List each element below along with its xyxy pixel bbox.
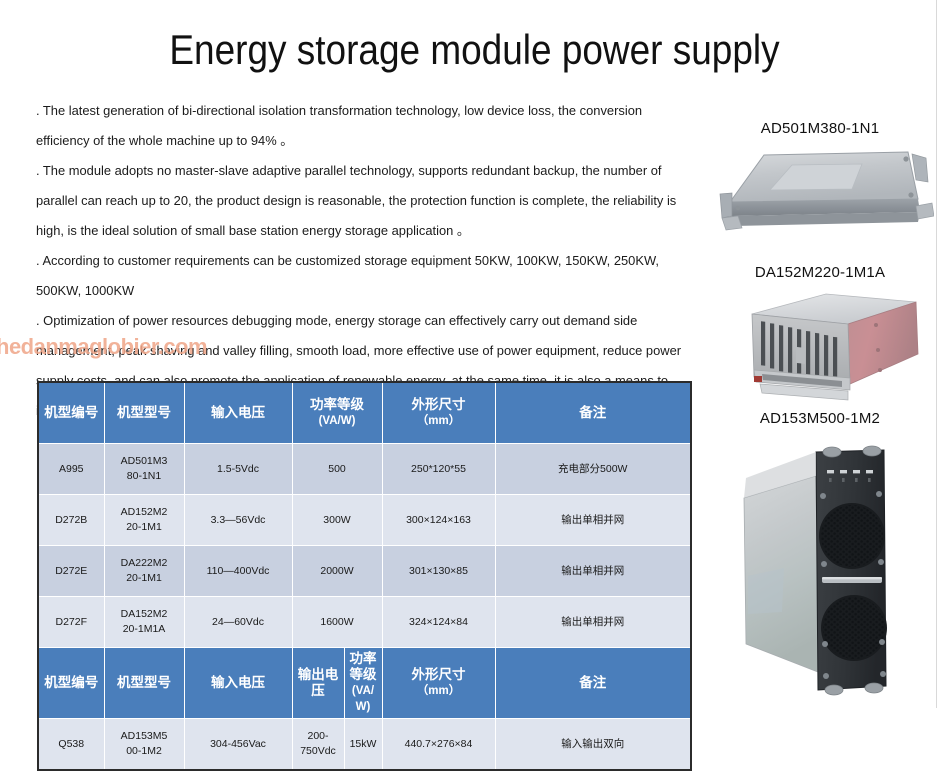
header-dimensions-main: 外形尺寸 (385, 397, 493, 413)
cell-power-level: 500 (292, 444, 382, 495)
table-header-row-1: 机型编号 机型型号 输入电压 功率等级 (VA/W) 外形尺寸 （mm） 备注 (38, 382, 691, 444)
cell-model-number-line1: DA152M2 (107, 607, 182, 622)
flat-rack-module-icon (712, 146, 934, 256)
product-label-2: DA152M220-1M1A (700, 264, 940, 281)
header-cell-model-number: 机型型号 (104, 382, 184, 444)
cell-model-number-line2: 20-1M1 (107, 520, 182, 535)
table-row: D272F DA152M2 20-1M1A 24—60Vdc 1600W 324… (38, 597, 691, 648)
cell-model-number-line2: 00-1M2 (107, 744, 182, 759)
header-power-level-main: 功率等级 (295, 397, 380, 413)
table-row: Q538 AD153M5 00-1M2 304-456Vac 200- 750V… (38, 719, 691, 771)
cell-model-number: DA222M2 20-1M1 (104, 546, 184, 597)
cell-model-number-line2: 80-1N1 (107, 469, 182, 484)
description-paragraph-1: . The latest generation of bi-directiona… (36, 96, 682, 156)
header2-dimensions-unit: （mm） (385, 683, 493, 699)
header2-power-level-unit: (VA/W) (347, 683, 380, 715)
cell-model-number: AD501M3 80-1N1 (104, 444, 184, 495)
cell-model-code: D272F (38, 597, 104, 648)
cell-remark: 输出单相并网 (495, 597, 691, 648)
cell-model-number-line1: AD152M2 (107, 505, 182, 520)
product-image-2 (730, 292, 930, 404)
table-row: A995 AD501M3 80-1N1 1.5-5Vdc 500 250*120… (38, 444, 691, 495)
tall-fan-module-icon (722, 436, 928, 698)
cell-dimensions: 250*120*55 (382, 444, 495, 495)
cell-input-voltage: 3.3—56Vdc (184, 495, 292, 546)
cell-input-voltage: 110—400Vdc (184, 546, 292, 597)
header2-power-level-main: 功率等级 (347, 651, 380, 683)
cell-model-code: D272B (38, 495, 104, 546)
header-cell-power-level: 功率等级 (VA/W) (292, 382, 382, 444)
cell-power-level: 2000W (292, 546, 382, 597)
slide-page: Energy storage module power supply . The… (0, 0, 949, 708)
product-label-3: AD153M500-1M2 (700, 410, 940, 427)
cell-model-number-line2: 20-1M1A (107, 622, 182, 637)
cell-model-code: A995 (38, 444, 104, 495)
cell-dimensions: 324×124×84 (382, 597, 495, 648)
cell-dimensions: 440.7×276×84 (382, 719, 495, 771)
cell-remark: 输出单相并网 (495, 546, 691, 597)
product-gallery: AD501M380-1N1 (700, 0, 949, 708)
cell-remark: 输入输出双向 (495, 719, 691, 771)
cell-input-voltage: 24—60Vdc (184, 597, 292, 648)
product-label-1: AD501M380-1N1 (700, 120, 940, 137)
cell-dimensions: 300×124×163 (382, 495, 495, 546)
cell-power-level: 300W (292, 495, 382, 546)
table-row: D272B AD152M2 20-1M1 3.3—56Vdc 300W 300×… (38, 495, 691, 546)
header-cell-remark: 备注 (495, 382, 691, 444)
cell-model-number: AD152M2 20-1M1 (104, 495, 184, 546)
product-image-3 (722, 436, 928, 698)
specification-table: 机型编号 机型型号 输入电压 功率等级 (VA/W) 外形尺寸 （mm） 备注 … (37, 381, 692, 771)
description-paragraph-3: . According to customer requirements can… (36, 246, 682, 306)
header-cell-model-code: 机型编号 (38, 382, 104, 444)
table-row: D272E DA222M2 20-1M1 110—400Vdc 2000W 30… (38, 546, 691, 597)
cell-remark: 充电部分500W (495, 444, 691, 495)
header-power-level-unit: (VA/W) (295, 413, 380, 429)
cell-power-level: 1600W (292, 597, 382, 648)
cell-model-number-line2: 20-1M1 (107, 571, 182, 586)
cell-output-voltage-line1: 200- (295, 729, 342, 744)
cell-model-number-line1: AD501M3 (107, 454, 182, 469)
right-edge-divider (936, 0, 937, 708)
cell-input-voltage: 1.5-5Vdc (184, 444, 292, 495)
product-image-1 (712, 146, 934, 256)
cell-model-number-line1: DA222M2 (107, 556, 182, 571)
cell-model-number: DA152M2 20-1M1A (104, 597, 184, 648)
cell-model-code: Q538 (38, 719, 104, 771)
cell-output-voltage-line2: 750Vdc (295, 744, 342, 759)
cell-power-level: 15kW (344, 719, 382, 771)
description-paragraph-2: . The module adopts no master-slave adap… (36, 156, 682, 246)
description-block: . The latest generation of bi-directiona… (36, 96, 682, 426)
cell-model-number-line1: AD153M5 (107, 729, 182, 744)
cell-remark: 输出单相并网 (495, 495, 691, 546)
cell-dimensions: 301×130×85 (382, 546, 495, 597)
header2-dimensions-main: 外形尺寸 (385, 667, 493, 683)
cell-model-code: D272E (38, 546, 104, 597)
cell-input-voltage: 304-456Vac (184, 719, 292, 771)
cell-output-voltage: 200- 750Vdc (292, 719, 344, 771)
header-cell-input-voltage: 输入电压 (184, 382, 292, 444)
vented-rectifier-module-icon (730, 292, 930, 404)
header-dimensions-unit: （mm） (385, 413, 493, 429)
header-cell-dimensions: 外形尺寸 （mm） (382, 382, 495, 444)
cell-model-number: AD153M5 00-1M2 (104, 719, 184, 771)
